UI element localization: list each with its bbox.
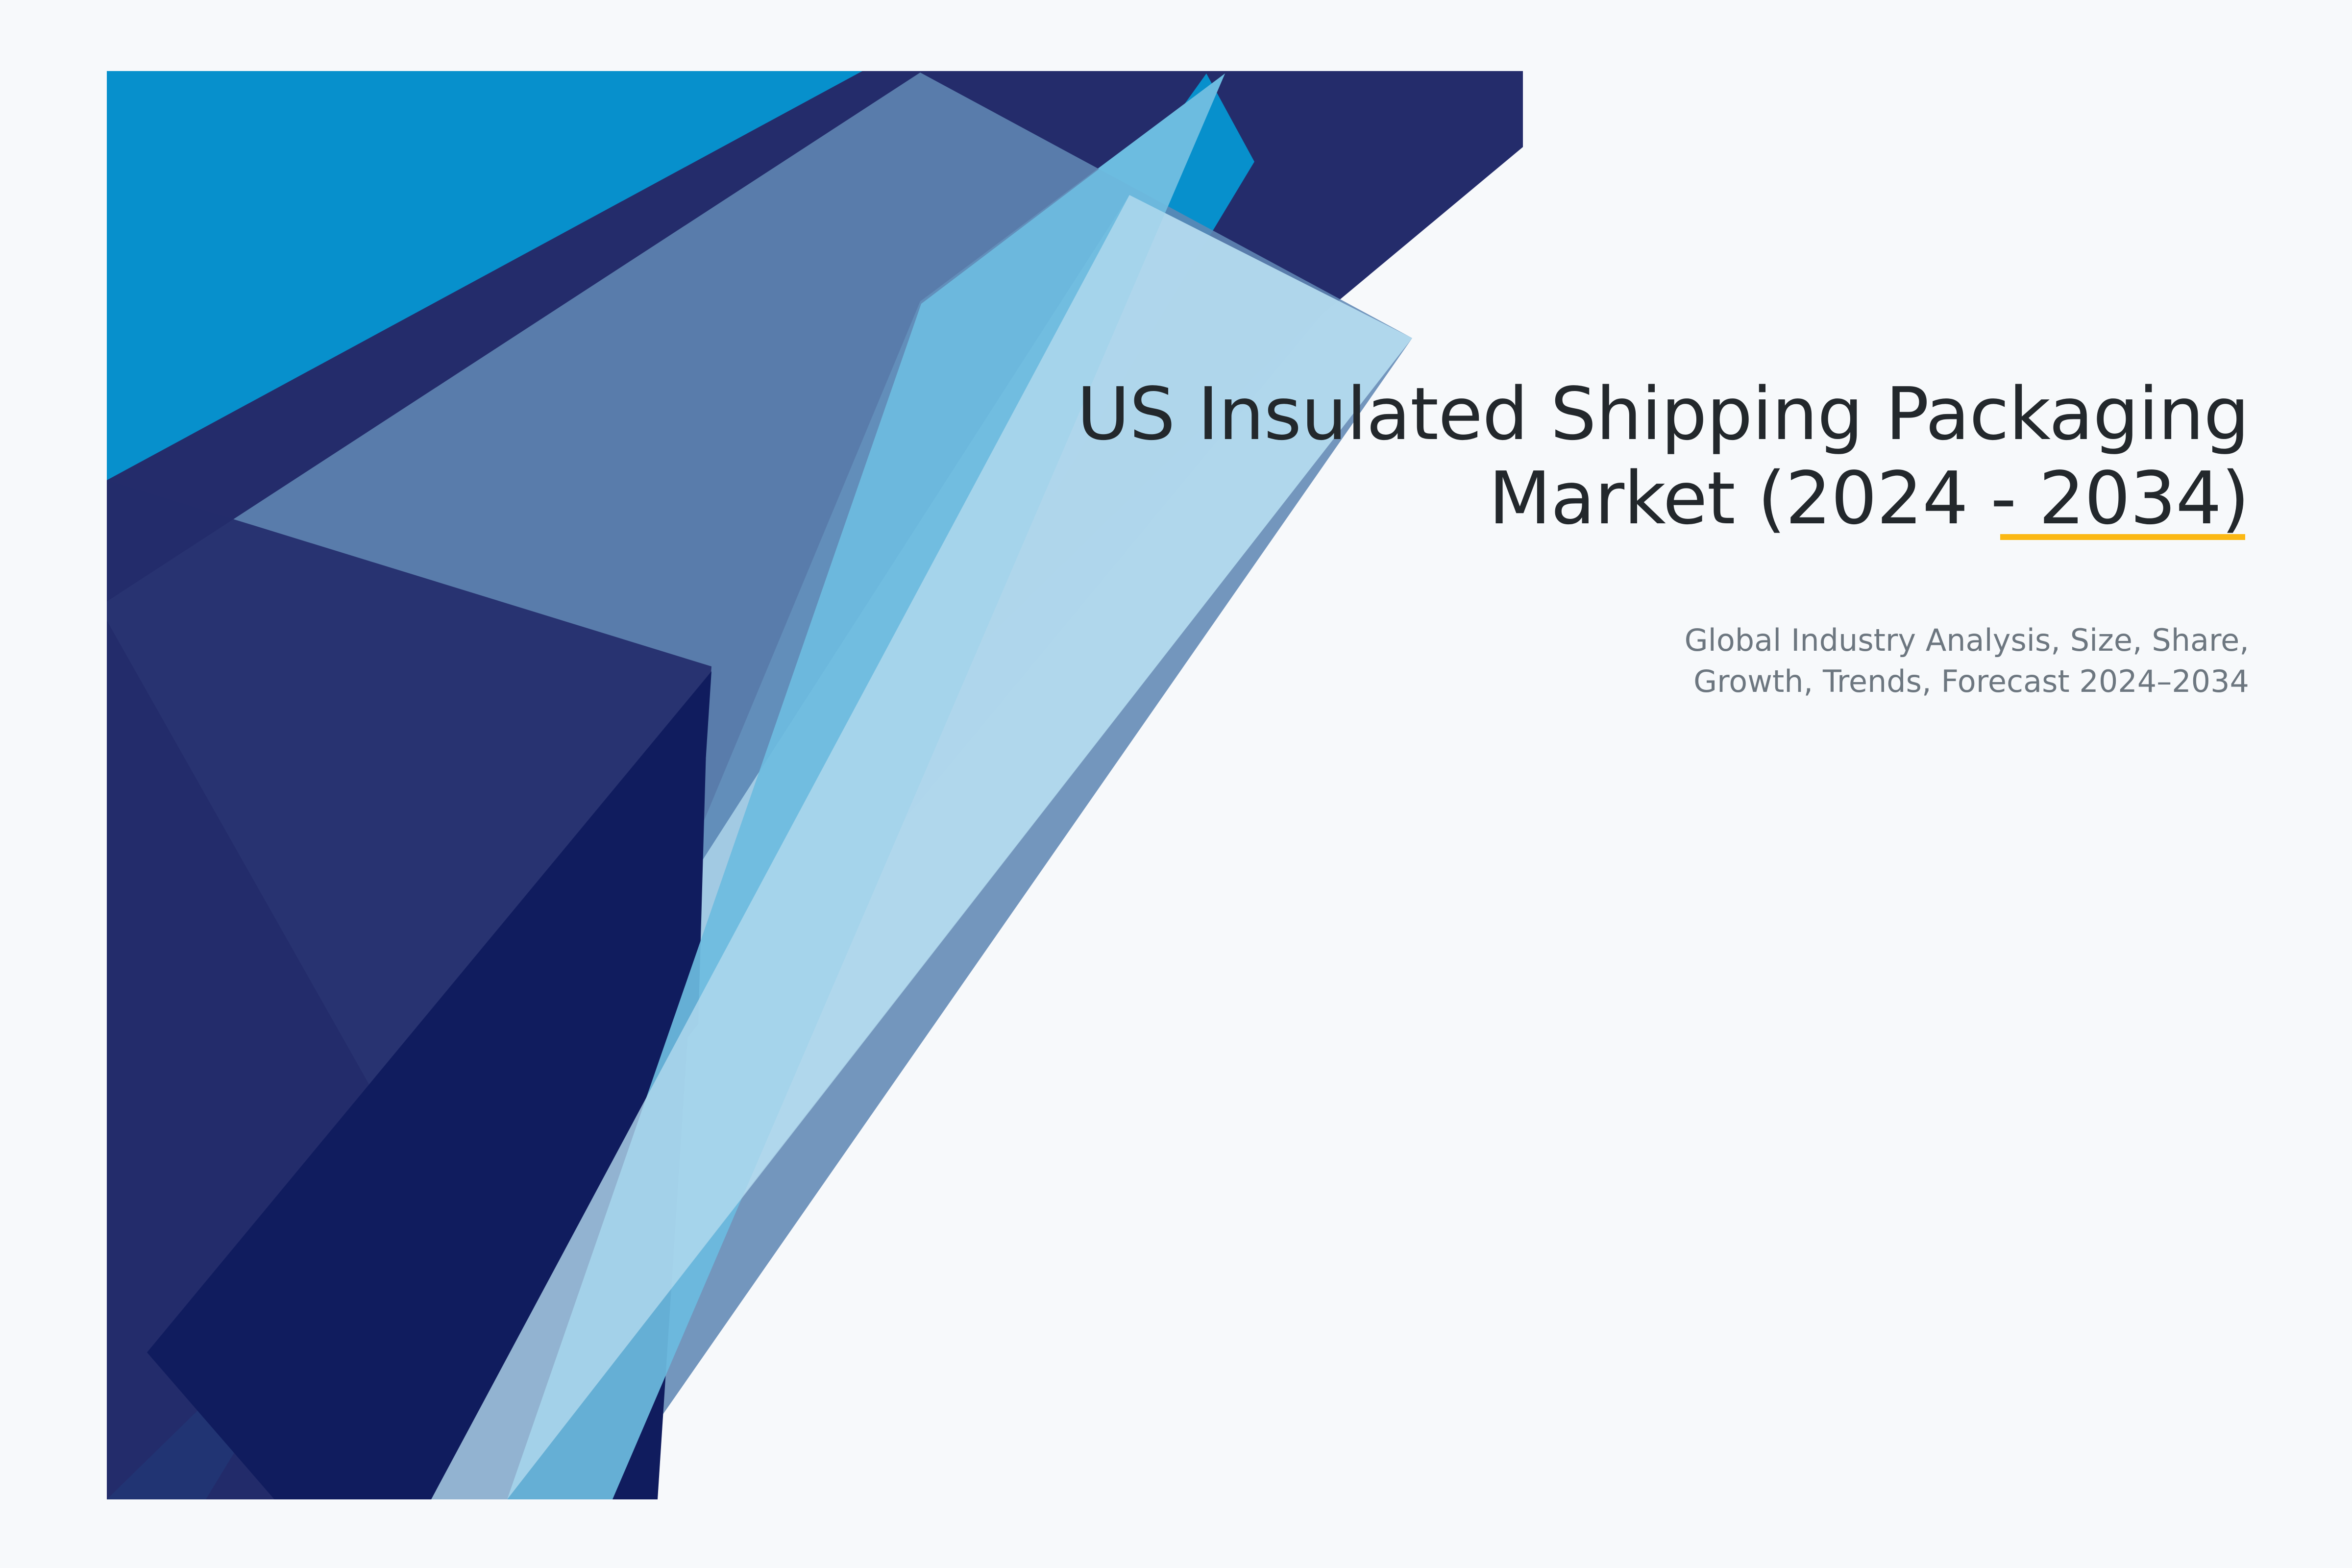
page-subtitle-line2: Growth, Trends, Forecast 2024–2034 — [1693, 663, 2249, 699]
page-title-line1: US Insulated Shipping Packaging — [1077, 372, 2250, 456]
abstract-geometric-graphic — [0, 0, 2352, 1568]
page-title-line2: Market (2024 - 2034) — [1489, 456, 2249, 540]
page-subtitle: Global Industry Analysis, Size, Share,Gr… — [1612, 620, 2249, 702]
report-cover-page: US Insulated Shipping PackagingMarket (2… — [0, 0, 2352, 1568]
cover-text-block: US Insulated Shipping PackagingMarket (2… — [955, 372, 2249, 702]
title-wrap: US Insulated Shipping PackagingMarket (2… — [955, 372, 2249, 540]
page-subtitle-line1: Global Industry Analysis, Size, Share, — [1685, 622, 2249, 658]
page-title: US Insulated Shipping PackagingMarket (2… — [955, 372, 2249, 540]
artwork-svg — [0, 0, 2352, 1568]
